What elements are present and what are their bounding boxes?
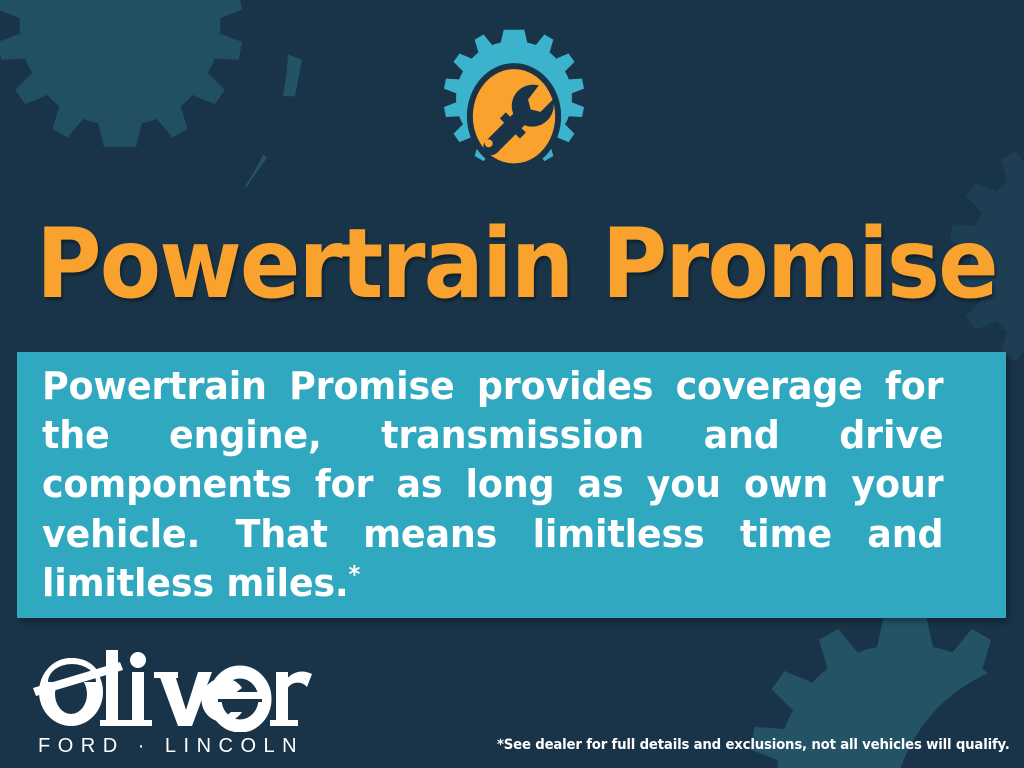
promo-graphic: Powertrain Promise Powertrain Promise pr… [0,0,1024,768]
body-copy: Powertrain Promise provides coverage for… [17,362,966,609]
body-copy-text: Powertrain Promise provides coverage for… [42,364,943,606]
asterisk-marker: * [349,560,361,588]
background-gear-topleft-small [0,0,300,240]
gear-wrench-icon [428,28,600,208]
body-copy-panel: Powertrain Promise provides coverage for… [17,352,1006,618]
dealer-logo-subtitle: FORD · LINCOLN [38,735,304,758]
disclaimer-text: *See dealer for full details and exclusi… [497,737,1010,753]
headline-wrapper: Powertrain Promise [0,216,1024,312]
page-title: Powertrain Promise [36,216,997,312]
oliver-wordmark [28,636,328,732]
